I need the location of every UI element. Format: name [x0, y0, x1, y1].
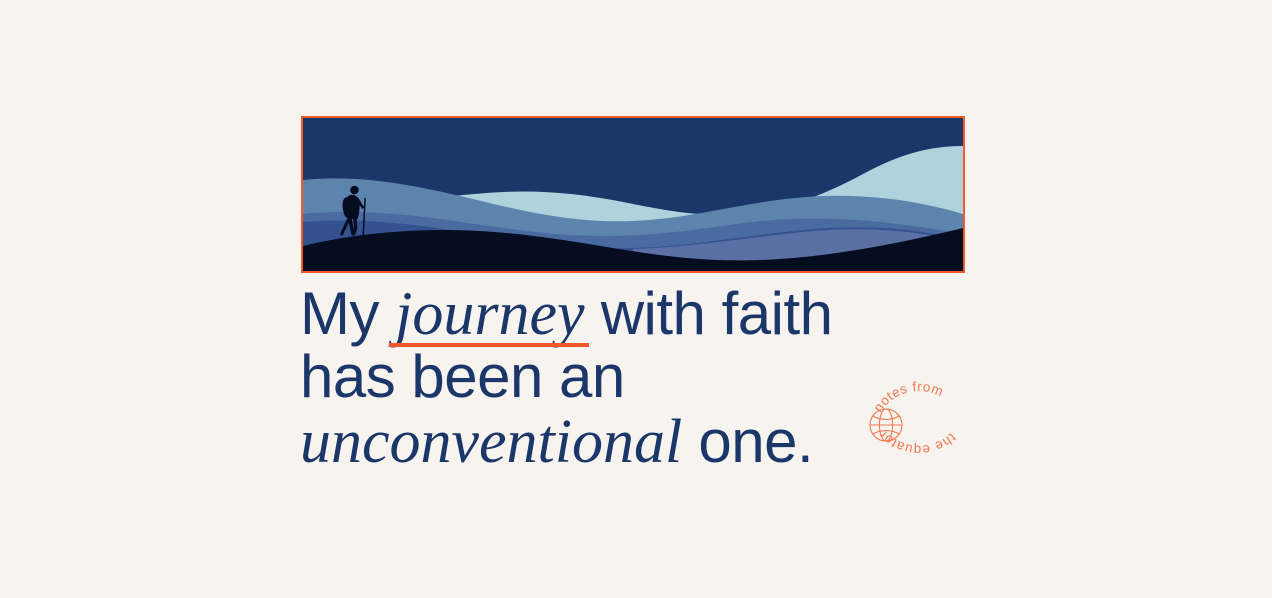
- headline-emphasis-journey: journey: [395, 283, 584, 345]
- headline-emphasis-unconventional: unconventional: [300, 408, 682, 476]
- landscape-svg: [303, 118, 963, 271]
- headline-line1-part2: with faith: [585, 280, 833, 347]
- headline-line-1: My journey with faith: [300, 283, 1000, 347]
- headline-line3-part2: one.: [682, 408, 813, 475]
- headline-line2-text: has been an: [300, 343, 625, 410]
- brand-badge-svg: notes from the equator: [858, 362, 980, 484]
- brand-badge[interactable]: notes from the equator: [858, 362, 980, 484]
- badge-text-bottom: the equator: [875, 427, 959, 457]
- landscape-illustration: [301, 116, 965, 273]
- headline-line1-part1: My: [300, 280, 395, 347]
